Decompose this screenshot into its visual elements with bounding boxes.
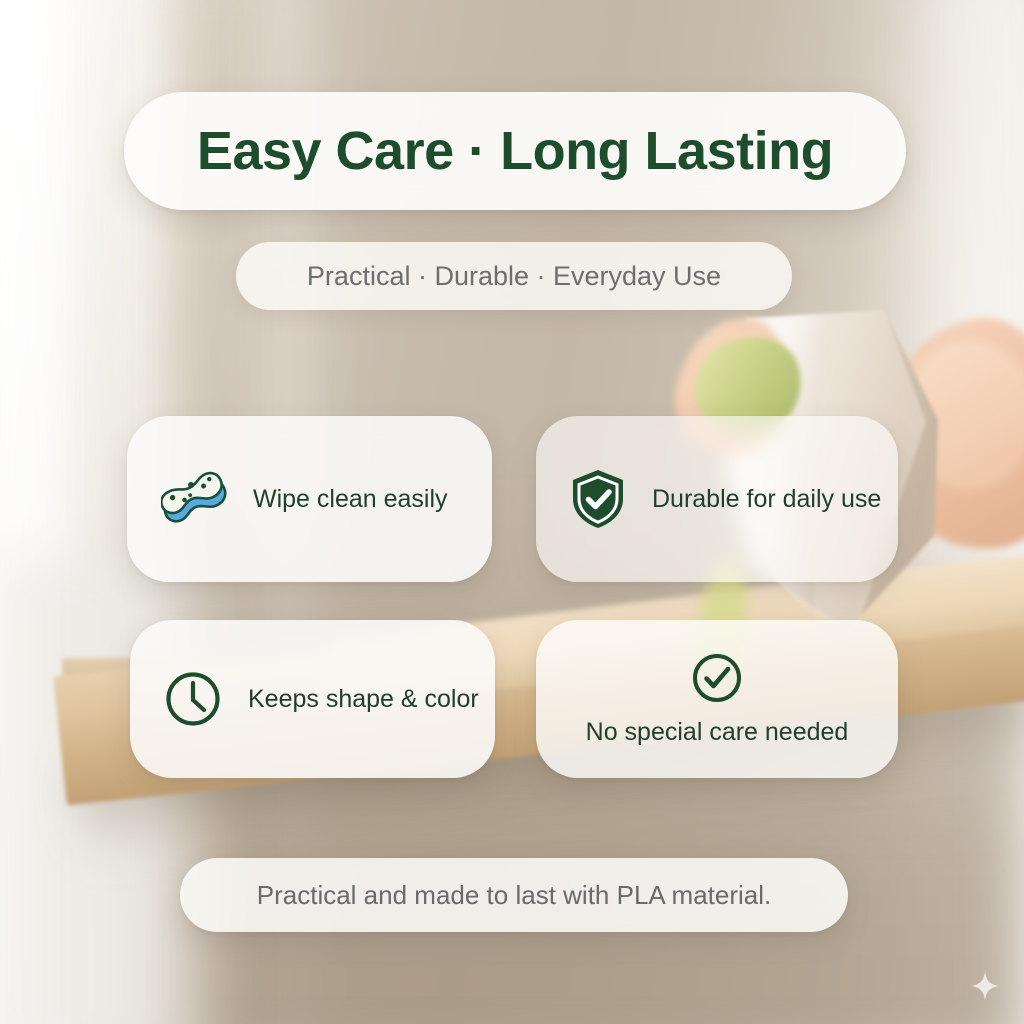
feature-card-no-special-care[interactable]: No special care needed [536, 620, 898, 778]
feature-card-keeps-shape[interactable]: Keeps shape & color [130, 620, 495, 778]
footer-text: Practical and made to last with PLA mate… [257, 880, 771, 911]
shield-check-icon [570, 468, 626, 530]
poster-canvas: Easy Care · Long Lasting Practical · Dur… [0, 0, 1024, 1024]
sparkle-icon [970, 971, 1000, 1001]
feature-card-durable[interactable]: Durable for daily use [536, 416, 898, 582]
page-title: Easy Care · Long Lasting [197, 120, 833, 182]
feature-label: Keeps shape & color [248, 685, 479, 714]
check-circle-icon [691, 652, 743, 704]
page-subtitle: Practical · Durable · Everyday Use [307, 261, 721, 292]
footer-pill: Practical and made to last with PLA mate… [180, 858, 848, 932]
title-pill: Easy Care · Long Lasting [124, 92, 906, 210]
subtitle-pill: Practical · Durable · Everyday Use [236, 242, 792, 310]
feature-label: No special care needed [586, 718, 849, 747]
clock-icon [164, 670, 222, 728]
sponge-icon [161, 469, 227, 529]
feature-label: Durable for daily use [652, 485, 881, 514]
feature-card-wipe-clean[interactable]: Wipe clean easily [127, 416, 492, 582]
feature-label: Wipe clean easily [253, 485, 448, 514]
